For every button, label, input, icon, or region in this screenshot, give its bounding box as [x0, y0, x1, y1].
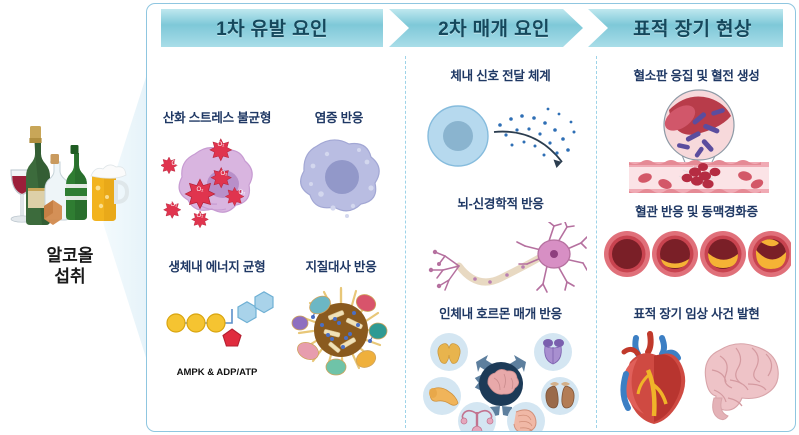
neuron-icon [415, 222, 587, 302]
column-secondary-mediators: 체내 신호 전달 체계 [405, 51, 596, 432]
beer-bottle-icon [65, 145, 87, 220]
oxidative-stress-cell-ros-icon: O₂O₂ O₂O₂ O₂O₂O₂ [161, 132, 273, 228]
cell-atherosclerosis-title: 혈관 반응 및 동맥경화증 [598, 201, 795, 220]
cell-inflammation-title: 염증 반응 [283, 107, 395, 126]
endocrine-hormone-hub-icon [416, 326, 586, 432]
stage-banner-1-label: 1차 유발 요인 [161, 4, 383, 51]
satellite-pituitary [534, 333, 572, 371]
cell-neuro-response-title: 뇌-신경학적 반응 [409, 193, 592, 212]
svg-text:O₂: O₂ [197, 187, 205, 193]
source-label: 알코올 섭취 [0, 246, 140, 287]
cell-inflammation: 염증 반응 [283, 107, 395, 228]
cell-lipid-metabolism-title: 지질대사 반응 [285, 256, 397, 275]
cell-energy-balance-caption: AMPK & ADP/ATP [155, 367, 279, 378]
cell-energy-balance-title: 생체내 에너지 균형 [155, 256, 279, 275]
stage-banner-row: 1차 유발 요인 2차 매개 요인 표적 장기 현상 [147, 4, 796, 51]
pathway-panel: 1차 유발 요인 2차 매개 요인 표적 장기 현상 산화 스트레스 불균형 [146, 3, 796, 432]
cell-lipid-metabolism: 지질대사 반응 [285, 256, 397, 383]
ampk-energy-molecule-icon [158, 285, 276, 365]
cell-oxidative-stress: 산화 스트레스 불균형 O₂O₂ O₂O₂ O [157, 107, 277, 228]
lipoprotein-micelle-icon [288, 279, 394, 383]
cell-platelet-thrombus-title: 혈소판 응집 및 혈전 생성 [598, 65, 795, 84]
platelet-thrombus-vessel-icon [607, 88, 787, 193]
beer-mug-icon [91, 165, 127, 221]
satellite-pancreas [423, 377, 461, 415]
stage-banner-2-label: 2차 매개 요인 [405, 4, 583, 51]
cell-clinical-events: 표적 장기 임상 사건 발현 [598, 303, 795, 432]
stage-banner-3-label: 표적 장기 현상 [602, 4, 783, 51]
cell-atherosclerosis: 혈관 반응 및 동맥경화증 [598, 201, 795, 282]
cell-neuro-response: 뇌-신경학적 반응 [409, 193, 592, 302]
cell-oxidative-stress-title: 산화 스트레스 불균형 [157, 107, 277, 126]
inflammatory-immune-cell-icon [287, 132, 391, 228]
satellite-uterus-ovary [458, 402, 496, 432]
column-target-organ-outcomes: 혈소판 응집 및 혈전 생성 [596, 51, 796, 432]
heart-icon [623, 334, 685, 424]
cell-energy-balance: 생체내 에너지 균형 AMPK & ADP/ATP [155, 256, 279, 378]
cell-platelet-thrombus: 혈소판 응집 및 혈전 생성 [598, 65, 795, 193]
svg-text:O₂: O₂ [197, 213, 205, 219]
source-label-line-1: 알코올 [0, 246, 140, 267]
satellite-intestine [507, 402, 545, 432]
alcohol-source-block: 알코올 섭취 [0, 118, 140, 303]
svg-text:O₂: O₂ [172, 161, 180, 167]
satellite-thyroid [430, 333, 468, 371]
column-primary-triggers: 산화 스트레스 불균형 O₂O₂ O₂O₂ O [147, 51, 405, 432]
svg-text:O₂: O₂ [218, 142, 226, 148]
svg-text:O₂: O₂ [221, 171, 229, 177]
satellite-adrenal-kidney [541, 377, 579, 415]
heart-and-brain-icon [602, 328, 792, 432]
svg-text:O₂: O₂ [171, 202, 179, 208]
cell-cell-signaling-title: 체내 신호 전달 체계 [409, 65, 592, 84]
atherosclerosis-progression-icon [603, 226, 791, 282]
cell-clinical-events-title: 표적 장기 임상 사건 발현 [598, 303, 795, 322]
brain-icon [705, 344, 778, 420]
source-label-line-2: 섭취 [0, 267, 140, 288]
alcoholic-drinks-illustration [6, 118, 134, 243]
cell-hormone-response-title: 인체내 호르몬 매개 반응 [407, 303, 594, 322]
svg-text:O₂: O₂ [239, 190, 247, 196]
cell-hormone-response: 인체내 호르몬 매개 반응 [407, 303, 594, 432]
cell-signaling-arrow-icon [416, 92, 586, 176]
cell-cell-signaling: 체내 신호 전달 체계 [409, 65, 592, 176]
